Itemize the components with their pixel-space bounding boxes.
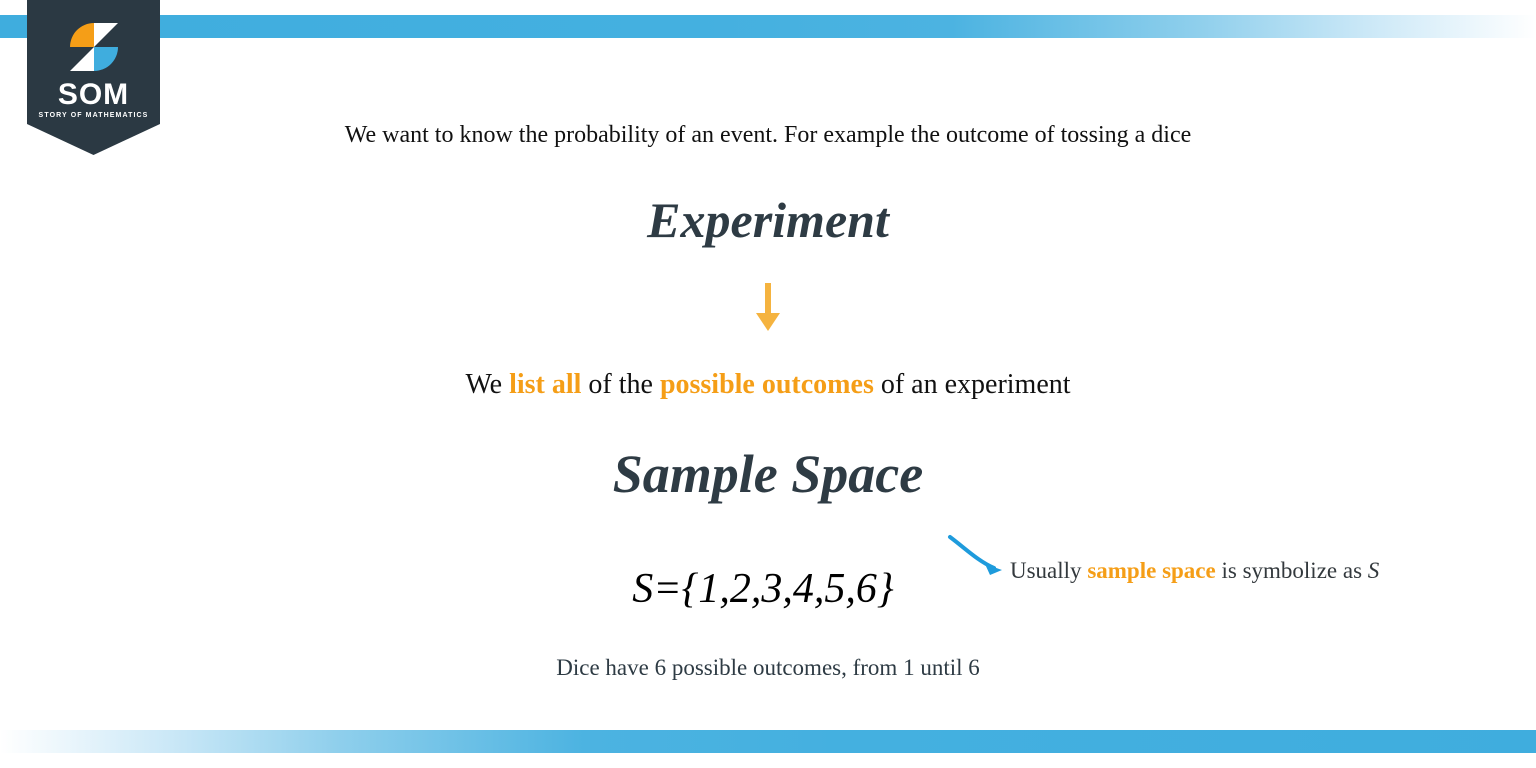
gradient-bar-top xyxy=(0,15,1536,38)
annotation-highlight-sample-space: sample space xyxy=(1087,558,1215,583)
list-line-highlight-possible-outcomes: possible outcomes xyxy=(660,369,874,400)
annotation-symbol: S xyxy=(1368,558,1380,583)
sample-space-formula-text: S={1,2,3,4,5,6} xyxy=(632,566,893,612)
curved-arrow-icon xyxy=(944,533,1016,585)
gradient-bar-bottom xyxy=(0,730,1536,753)
logo-tagline: STORY OF MATHEMATICS xyxy=(27,112,160,119)
slide-root: { "logo": { "wordmark": "SOM", "tagline"… xyxy=(0,0,1536,768)
sample-space-annotation: Usually sample space is symbolize as S xyxy=(1010,557,1379,585)
intro-text: We want to know the probability of an ev… xyxy=(0,121,1536,150)
som-logo: SOM STORY OF MATHEMATICS xyxy=(27,0,160,155)
heading-experiment: Experiment xyxy=(0,193,1536,248)
list-line-highlight-list-all: list all xyxy=(509,369,581,400)
annotation-part2: is symbolize as xyxy=(1216,558,1368,583)
annotation-part1: Usually xyxy=(1010,558,1087,583)
list-line-part1: We xyxy=(465,369,509,400)
som-s-mark-icon xyxy=(63,19,125,75)
list-line-part3: of an experiment xyxy=(874,369,1071,400)
heading-sample-space: Sample Space xyxy=(0,445,1536,504)
dice-caption: Dice have 6 possible outcomes, from 1 un… xyxy=(0,654,1536,682)
list-all-line: We list all of the possible outcomes of … xyxy=(0,368,1536,402)
list-line-part2: of the xyxy=(581,369,660,400)
logo-wordmark: SOM xyxy=(27,80,160,110)
arrow-down-icon xyxy=(0,283,1536,342)
